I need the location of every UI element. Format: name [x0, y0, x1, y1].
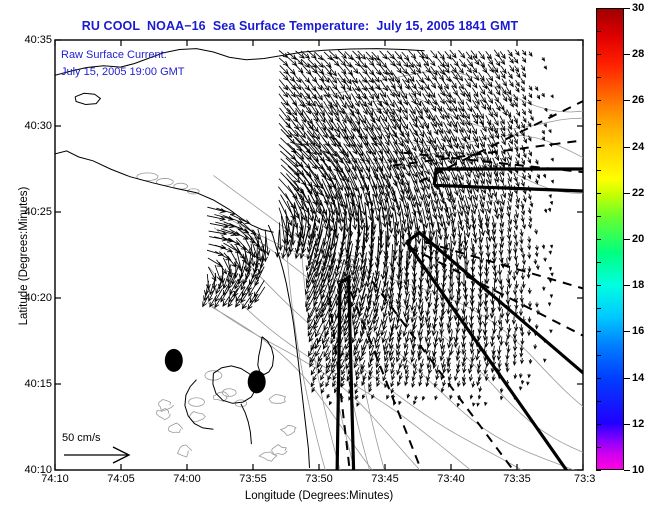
colorbar-minor-tick [596, 77, 601, 78]
colorbar-tick-label: 12 [632, 418, 644, 430]
colorbar-tick [624, 285, 630, 286]
colorbar-tick [624, 54, 630, 55]
colorbar-tick [624, 424, 630, 425]
colorbar-minor-tick [596, 308, 601, 309]
colorbar-minor-tick [596, 285, 601, 286]
colorbar-minor-tick [596, 355, 601, 356]
colorbar-tick-label: 18 [632, 279, 644, 291]
colorbar-minor-tick [596, 331, 601, 332]
colorbar-tick-label: 14 [632, 372, 644, 384]
colorbar-tick-label: 10 [632, 464, 644, 476]
colorbar-minor-tick [596, 54, 601, 55]
colorbar-minor-tick [596, 401, 601, 402]
station-marker [165, 349, 183, 372]
colorbar-tick [624, 470, 630, 471]
colorbar-tick [624, 100, 630, 101]
colorbar-minor-tick [596, 216, 601, 217]
colorbar-tick [624, 239, 630, 240]
colorbar-minor-tick [596, 147, 601, 148]
colorbar-tick [624, 147, 630, 148]
colorbar-minor-tick [596, 124, 601, 125]
colorbar-minor-tick [596, 378, 601, 379]
colorbar-tick-label: 20 [632, 233, 644, 245]
colorbar-tick [624, 331, 630, 332]
colorbar-tick [624, 378, 630, 379]
scale-bar-label: 50 cm/s [62, 432, 101, 444]
colorbar-minor-tick [596, 447, 601, 448]
colorbar-minor-tick [596, 262, 601, 263]
colorbar-minor-tick [596, 8, 601, 9]
annotation-line-2: July 15, 2005 19:00 GMT [61, 66, 185, 78]
colorbar-tick-label: 22 [632, 187, 644, 199]
colorbar-tick-label: 26 [632, 94, 644, 106]
colorbar-tick-label: 28 [632, 48, 644, 60]
colorbar-minor-tick [596, 31, 601, 32]
colorbar-tick [624, 193, 630, 194]
colorbar-tick-label: 24 [632, 141, 644, 153]
colorbar-minor-tick [596, 170, 601, 171]
annotation-line-1: Raw Surface Current: [61, 49, 167, 61]
colorbar-tick-label: 30 [632, 2, 644, 14]
station-marker [248, 370, 266, 393]
colorbar-minor-tick [596, 193, 601, 194]
colorbar-minor-tick [596, 424, 601, 425]
colorbar-minor-tick [596, 470, 601, 471]
colorbar-minor-tick [596, 100, 601, 101]
colorbar-tick-label: 16 [632, 325, 644, 337]
colorbar-minor-tick [596, 239, 601, 240]
colorbar-tick [624, 8, 630, 9]
